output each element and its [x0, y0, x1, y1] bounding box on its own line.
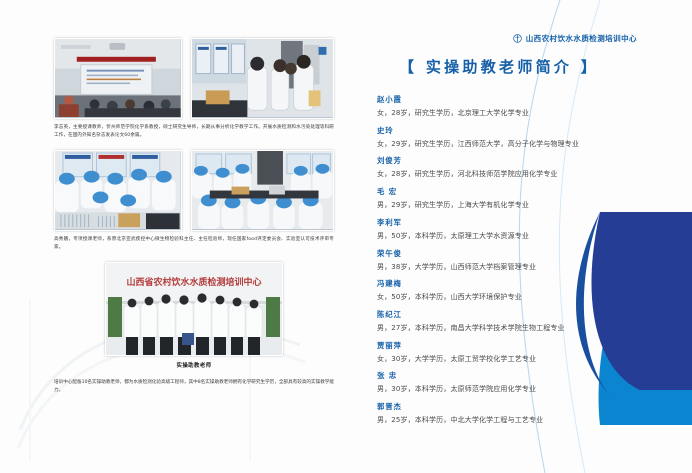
teacher-entry: 史玲女，29岁，研究生学历，江西师范大学，高分子化学与物理专业 — [377, 124, 647, 152]
teacher-name: 冯建梅 — [377, 277, 647, 291]
teacher-description: 男，25岁，本科学历，中北大学化学工程与工艺专业 — [377, 414, 647, 428]
teacher-entry: 冯建梅女，50岁，本科学历，山西大学环境保护专业 — [377, 277, 647, 305]
group-photo-label: 实操助教老师 — [54, 361, 334, 369]
brochure-page: 李志英，主要授课教师，忻州师范学院化学系教授，硕士研究生导师，长期从事分析化学教… — [0, 0, 692, 473]
teacher-entry: 赵小霞女，28岁，研究生学历，北京理工大学化学专业 — [377, 93, 647, 121]
svg-text:山西省农村饮水水质检测培训中心: 山西省农村饮水水质检测培训中心 — [126, 276, 261, 288]
teacher-description: 男，29岁，研究生学历，上海大学有机化学专业 — [377, 199, 647, 213]
circular-emblem-icon — [513, 34, 522, 43]
teacher-entry: 陈纪江男，27岁，本科学历，南昌大学科学技术学院生物工程专业 — [377, 308, 647, 336]
photo-row-top — [54, 38, 334, 119]
teacher-description: 女，29岁，研究生学历，江西师范大学，高分子化学与物理专业 — [377, 138, 647, 152]
group-photo-wrap: 山西省农村饮水水质检测培训中心 — [54, 262, 334, 369]
teacher-description: 女，50岁，本科学历，山西大学环境保护专业 — [377, 291, 647, 305]
teacher-entry: 李利军男，50岁，本科学历，太原理工大学水资源专业 — [377, 216, 647, 244]
teacher-list: 赵小霞女，28岁，研究生学历，北京理工大学化学专业史玲女，29岁，研究生学历，江… — [377, 93, 647, 428]
page-title: 【 实操助教老师简介 】 — [377, 56, 647, 77]
teacher-name: 荣午俊 — [377, 247, 647, 261]
students-lab-instruments-photo — [191, 38, 334, 119]
lab-training-testtubes-photo — [54, 150, 182, 231]
teacher-name: 张 忠 — [377, 369, 647, 383]
right-content-column: 山西农村饮水水质检测培训中心 【 实操助教老师简介 】 赵小霞女，28岁，研究生… — [377, 33, 647, 431]
teacher-entry: 毛 宏男，29岁，研究生学历，上海大学有机化学专业 — [377, 185, 647, 213]
staff-group-photo: 山西省农村饮水水质检测培训中心 — [105, 262, 283, 356]
teacher-name: 李利军 — [377, 216, 647, 230]
teacher-name: 史玲 — [377, 124, 647, 138]
teacher-description: 女，30岁，大学学历，太原工贸学校化学工艺专业 — [377, 353, 647, 367]
teacher-entry: 贾丽萍女，30岁，大学学历，太原工贸学校化学工艺专业 — [377, 339, 647, 367]
classroom-lecture-photo — [54, 38, 182, 119]
teacher-entry: 郭晋杰男，25岁，本科学历，中北大学化学工程与工艺专业 — [377, 400, 647, 428]
photo-row-middle — [54, 150, 334, 231]
teacher-entry: 张 忠男，30岁，本科学历，太原师范学院应用化学专业 — [377, 369, 647, 397]
teacher-name: 刘俊芳 — [377, 154, 647, 168]
teacher-description: 男，27岁，本科学历，南昌大学科学技术学院生物工程专业 — [377, 322, 647, 336]
teacher-description: 女，28岁，研究生学历，北京理工大学化学专业 — [377, 107, 647, 121]
teacher-name: 郭晋杰 — [377, 400, 647, 414]
teacher-name: 毛 宏 — [377, 185, 647, 199]
teacher-description: 男，50岁，本科学历，太原理工大学水资源专业 — [377, 230, 647, 244]
caption-teacher-one: 李志英，主要授课教师，忻州师范学院化学系教授，硕士研究生导师，长期从事分析化学教… — [54, 124, 334, 140]
lab-classroom-group-photo — [191, 150, 334, 231]
caption-teacher-two: 高秀娥，专项授课老师，系原北京宣武疾控中心微生物检验科主任、主任检验师，现任国家… — [54, 236, 334, 252]
teacher-entry: 荣午俊男，38岁，大学学历，山西师范大学档案管理专业 — [377, 247, 647, 275]
bottom-note-text: 培训中心配备10名实操助教老师，都为水质检测化验高级工程师，其中8名实操助教老师… — [54, 379, 334, 396]
teacher-name: 赵小霞 — [377, 93, 647, 107]
teacher-description: 男，38岁，大学学历，山西师范大学档案管理专业 — [377, 261, 647, 275]
brand-header: 山西农村饮水水质检测培训中心 — [377, 33, 647, 44]
brand-name: 山西农村饮水水质检测培训中心 — [526, 33, 637, 44]
teacher-entry: 刘俊芳女，28岁，研究生学历，河北科技师范学院应用化学专业 — [377, 154, 647, 182]
left-photo-column: 李志英，主要授课教师，忻州师范学院化学系教授，硕士研究生导师，长期从事分析化学教… — [54, 38, 334, 396]
teacher-description: 女，28岁，研究生学历，河北科技师范学院应用化学专业 — [377, 168, 647, 182]
teacher-name: 陈纪江 — [377, 308, 647, 322]
teacher-description: 男，30岁，本科学历，太原师范学院应用化学专业 — [377, 383, 647, 397]
teacher-name: 贾丽萍 — [377, 339, 647, 353]
